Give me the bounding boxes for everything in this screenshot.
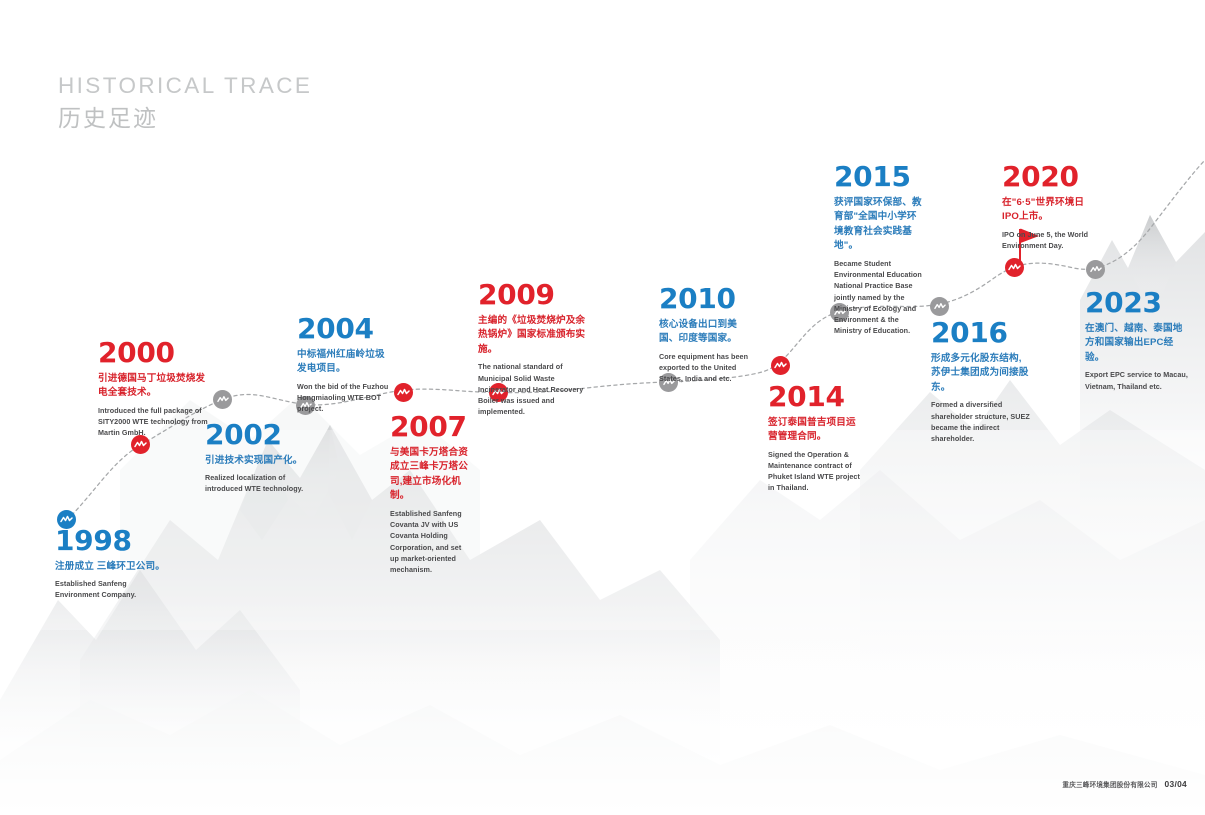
waypoint-marker-gray-2023[interactable] (1086, 260, 1105, 279)
sanfeng-peaks-icon (397, 388, 410, 397)
timeline-entry-2000: 2000 引进德国马丁垃圾焚烧发电全套技术。 Introduced the fu… (98, 340, 214, 438)
entry-text-cn: 核心设备出口到美国、印度等国家。 (659, 318, 749, 347)
entry-year: 2007 (390, 414, 470, 441)
entry-text-cn: 在澳门、越南、泰国地方和国家输出EPC经验。 (1085, 322, 1191, 366)
entry-text-en: Export EPC service to Macau, Vietnam, Th… (1085, 369, 1191, 391)
sanfeng-peaks-icon (1090, 265, 1102, 274)
timeline-entry-2002: 2002 引进技术实现国产化。 Realized localization of… (205, 422, 317, 495)
sanfeng-peaks-icon (1008, 263, 1021, 272)
timeline-entry-2009: 2009 主编的《垃圾焚烧炉及余热锅炉》国家标准颁布实施。 The nation… (478, 282, 590, 418)
entry-text-en: Realized localization of introduced WTE … (205, 472, 317, 494)
entry-text-cn: 中标福州红庙岭垃圾发电项目。 (297, 348, 391, 377)
timeline-entry-1998: 1998 注册成立 三峰环卫公司。 Established Sanfeng En… (55, 528, 165, 601)
entry-text-en: Introduced the full package of SITY2000 … (98, 405, 214, 439)
sanfeng-peaks-icon (934, 302, 946, 311)
entry-year: 2015 (834, 164, 924, 191)
sanfeng-peaks-icon (60, 515, 73, 524)
entry-text-en: Formed a diversified shareholder structu… (931, 399, 1031, 444)
entry-text-cn: 获评国家环保部、教育部"全国中小学环境教育社会实践基地"。 (834, 196, 924, 254)
entry-year: 2010 (659, 286, 749, 313)
entry-text-en: Established Sanfeng Covanta JV with US C… (390, 508, 470, 575)
timeline-entry-2010: 2010 核心设备出口到美国、印度等国家。 Core equipment has… (659, 286, 749, 384)
entry-text-en: Core equipment has been exported to the … (659, 351, 749, 385)
timeline-entry-2016: 2016 形成多元化股东结构,苏伊士集团成为间接股东。 Formed a div… (931, 320, 1031, 444)
entry-year: 2023 (1085, 290, 1191, 317)
sanfeng-peaks-icon (134, 440, 147, 449)
entry-text-en: Won the bid of the Fuzhou Hongmiaoling W… (297, 381, 391, 415)
entry-text-en: IPO on June 5, the World Environment Day… (1002, 229, 1098, 251)
timeline-entry-2023: 2023 在澳门、越南、泰国地方和国家输出EPC经验。 Export EPC s… (1085, 290, 1191, 392)
timeline-entry-2015: 2015 获评国家环保部、教育部"全国中小学环境教育社会实践基地"。 Becam… (834, 164, 924, 337)
entry-year: 2000 (98, 340, 214, 367)
entry-year: 2009 (478, 282, 590, 309)
entry-text-en: Established Sanfeng Environment Company. (55, 578, 165, 600)
footer-page-number: 03/04 (1165, 779, 1187, 789)
entry-text-en: Signed the Operation & Maintenance contr… (768, 449, 860, 494)
entry-year: 2002 (205, 422, 317, 449)
summit-flag-marker-red-2020[interactable] (1005, 258, 1024, 277)
entry-year: 1998 (55, 528, 165, 555)
entry-year: 2004 (297, 316, 391, 343)
sanfeng-peaks-icon (774, 361, 787, 370)
poster-canvas: HISTORICAL TRACE 历史足迹 (0, 0, 1205, 815)
entry-text-cn: 形成多元化股东结构,苏伊士集团成为间接股东。 (931, 352, 1031, 396)
entry-year: 2020 (1002, 164, 1098, 191)
entry-text-en: The national standard of Municipal Solid… (478, 361, 590, 417)
page-footer: 重庆三峰环境集团股份有限公司 03/04 (1062, 779, 1187, 789)
entry-text-cn: 在"6·5"世界环境日IPO上市。 (1002, 196, 1098, 225)
logo-marker-red-2014[interactable] (771, 356, 790, 375)
logo-marker-red-2007[interactable] (394, 383, 413, 402)
entry-text-cn: 与美国卡万塔合资成立三峰卡万塔公司,建立市场化机制。 (390, 446, 470, 504)
entry-year: 2016 (931, 320, 1031, 347)
timeline-entry-2020: 2020 在"6·5"世界环境日IPO上市。 IPO on June 5, th… (1002, 164, 1098, 251)
entry-text-cn: 引进德国马丁垃圾焚烧发电全套技术。 (98, 372, 214, 401)
sanfeng-peaks-icon (217, 395, 229, 404)
entry-text-cn: 主编的《垃圾焚烧炉及余热锅炉》国家标准颁布实施。 (478, 314, 590, 358)
timeline-entry-2007: 2007 与美国卡万塔合资成立三峰卡万塔公司,建立市场化机制。 Establis… (390, 414, 470, 575)
timeline-entry-2014: 2014 签订泰国普吉项目运营管理合同。 Signed the Operatio… (768, 384, 860, 494)
entry-text-cn: 签订泰国普吉项目运营管理合同。 (768, 416, 860, 445)
entry-text-cn: 引进技术实现国产化。 (205, 454, 317, 469)
entry-text-cn: 注册成立 三峰环卫公司。 (55, 560, 165, 575)
entry-text-en: Became Student Environmental Education N… (834, 258, 924, 337)
waypoint-marker-gray-2002[interactable] (213, 390, 232, 409)
timeline-entry-2004: 2004 中标福州红庙岭垃圾发电项目。 Won the bid of the F… (297, 316, 391, 414)
entry-year: 2014 (768, 384, 860, 411)
footer-company-name: 重庆三峰环境集团股份有限公司 (1062, 779, 1157, 789)
waypoint-marker-gray-2016[interactable] (930, 297, 949, 316)
